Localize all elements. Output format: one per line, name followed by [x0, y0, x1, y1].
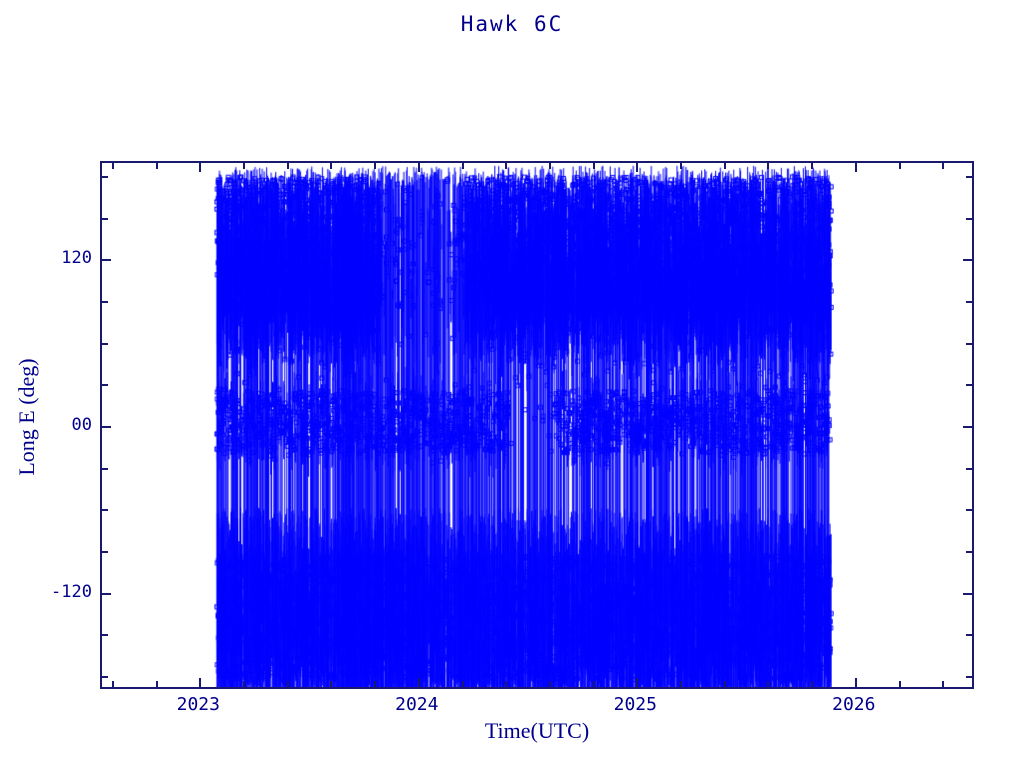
axis-tick — [102, 551, 108, 553]
axis-tick — [112, 681, 114, 687]
axis-tick — [287, 681, 289, 687]
axis-tick — [966, 176, 972, 178]
page-title: Hawk 6C — [0, 12, 1024, 36]
axis-tick — [963, 426, 972, 428]
axis-tick — [199, 163, 201, 172]
axis-tick — [966, 218, 972, 220]
axis-tick — [966, 509, 972, 511]
axis-tick — [102, 176, 108, 178]
axis-tick — [966, 676, 972, 678]
axis-tick — [462, 163, 464, 169]
axis-tick — [287, 163, 289, 169]
x-axis-title: Time(UTC) — [100, 718, 974, 744]
axis-tick — [243, 163, 245, 169]
axis-tick — [767, 163, 769, 169]
data-series-canvas — [102, 163, 972, 687]
axis-tick — [680, 681, 682, 687]
axis-tick — [966, 634, 972, 636]
axis-tick — [112, 163, 114, 169]
axis-tick — [966, 551, 972, 553]
axis-tick — [963, 593, 972, 595]
x-tick-label: 2026 — [832, 694, 875, 715]
axis-tick — [243, 681, 245, 687]
axis-tick — [636, 678, 638, 687]
y-tick-label: 00 — [72, 415, 92, 435]
axis-tick — [811, 681, 813, 687]
axis-tick — [374, 681, 376, 687]
axis-tick — [966, 301, 972, 303]
axis-tick — [942, 681, 944, 687]
axis-tick — [855, 678, 857, 687]
axis-tick — [102, 259, 111, 261]
axis-tick — [636, 163, 638, 172]
axis-tick — [966, 384, 972, 386]
axis-tick — [330, 163, 332, 169]
y-tick-label: -120 — [51, 582, 92, 602]
axis-tick — [102, 384, 108, 386]
axis-tick — [102, 468, 108, 470]
x-tick-label: 2023 — [177, 694, 220, 715]
axis-tick — [899, 163, 901, 169]
x-tick-label: 2025 — [614, 694, 657, 715]
axis-tick — [102, 634, 108, 636]
x-tick-label: 2024 — [395, 694, 438, 715]
chart-page: Hawk 6C Long E (deg) 12000-120 202320242… — [0, 0, 1024, 768]
y-axis-tick-labels: 12000-120 — [20, 161, 92, 689]
axis-tick — [505, 681, 507, 687]
axis-tick — [899, 681, 901, 687]
axis-tick — [102, 509, 108, 511]
y-tick-label: 120 — [61, 248, 92, 268]
axis-tick — [963, 259, 972, 261]
axis-tick — [724, 163, 726, 169]
axis-tick — [505, 163, 507, 169]
plot-area[interactable] — [100, 161, 974, 689]
axis-tick — [724, 681, 726, 687]
axis-tick — [593, 681, 595, 687]
axis-tick — [102, 426, 111, 428]
axis-tick — [549, 681, 551, 687]
axis-tick — [593, 163, 595, 169]
axis-tick — [156, 163, 158, 169]
axis-tick — [855, 163, 857, 172]
axis-tick — [102, 218, 108, 220]
axis-tick — [966, 468, 972, 470]
axis-tick — [418, 678, 420, 687]
axis-tick — [680, 163, 682, 169]
x-axis-tick-labels: 2023202420252026 — [100, 694, 974, 720]
axis-tick — [102, 343, 108, 345]
axis-tick — [462, 681, 464, 687]
axis-tick — [156, 681, 158, 687]
axis-tick — [966, 343, 972, 345]
axis-tick — [418, 163, 420, 172]
axis-tick — [767, 681, 769, 687]
axis-tick — [102, 676, 108, 678]
axis-tick — [199, 678, 201, 687]
axis-tick — [942, 163, 944, 169]
axis-tick — [102, 301, 108, 303]
axis-tick — [374, 163, 376, 169]
axis-tick — [549, 163, 551, 169]
axis-tick — [811, 163, 813, 169]
axis-tick — [330, 681, 332, 687]
axis-tick — [102, 593, 111, 595]
